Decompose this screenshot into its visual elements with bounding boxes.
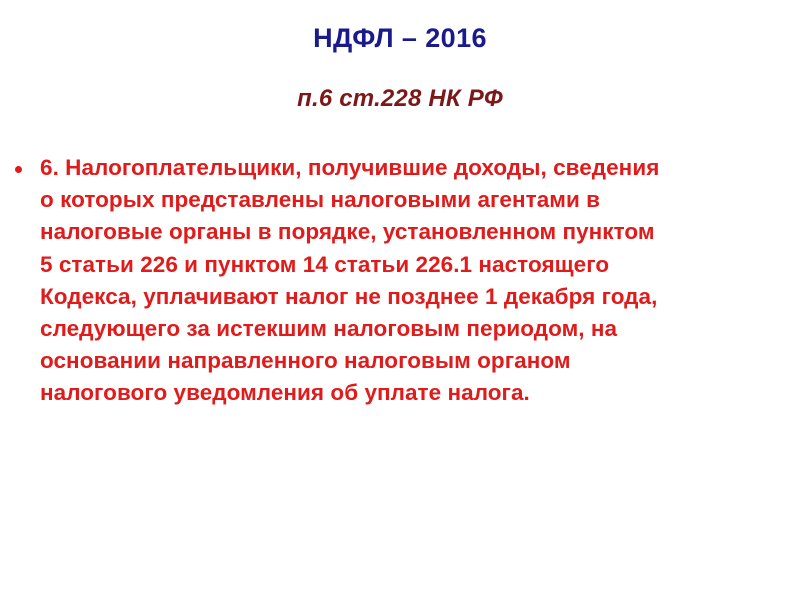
slide-body: 6. Налогоплательщики, получившие доходы,… — [12, 152, 788, 410]
bullet-point-icon — [15, 166, 22, 173]
slide-title: НДФЛ – 2016 — [0, 22, 800, 54]
slide-subtitle: п.6 ст.228 НК РФ — [0, 84, 800, 114]
presentation-slide: НДФЛ – 2016 п.6 ст.228 НК РФ 6. Налогопл… — [0, 0, 800, 600]
bullet-item-text: 6. Налогоплательщики, получившие доходы,… — [40, 152, 788, 410]
bullet-list-item: 6. Налогоплательщики, получившие доходы,… — [12, 152, 788, 410]
